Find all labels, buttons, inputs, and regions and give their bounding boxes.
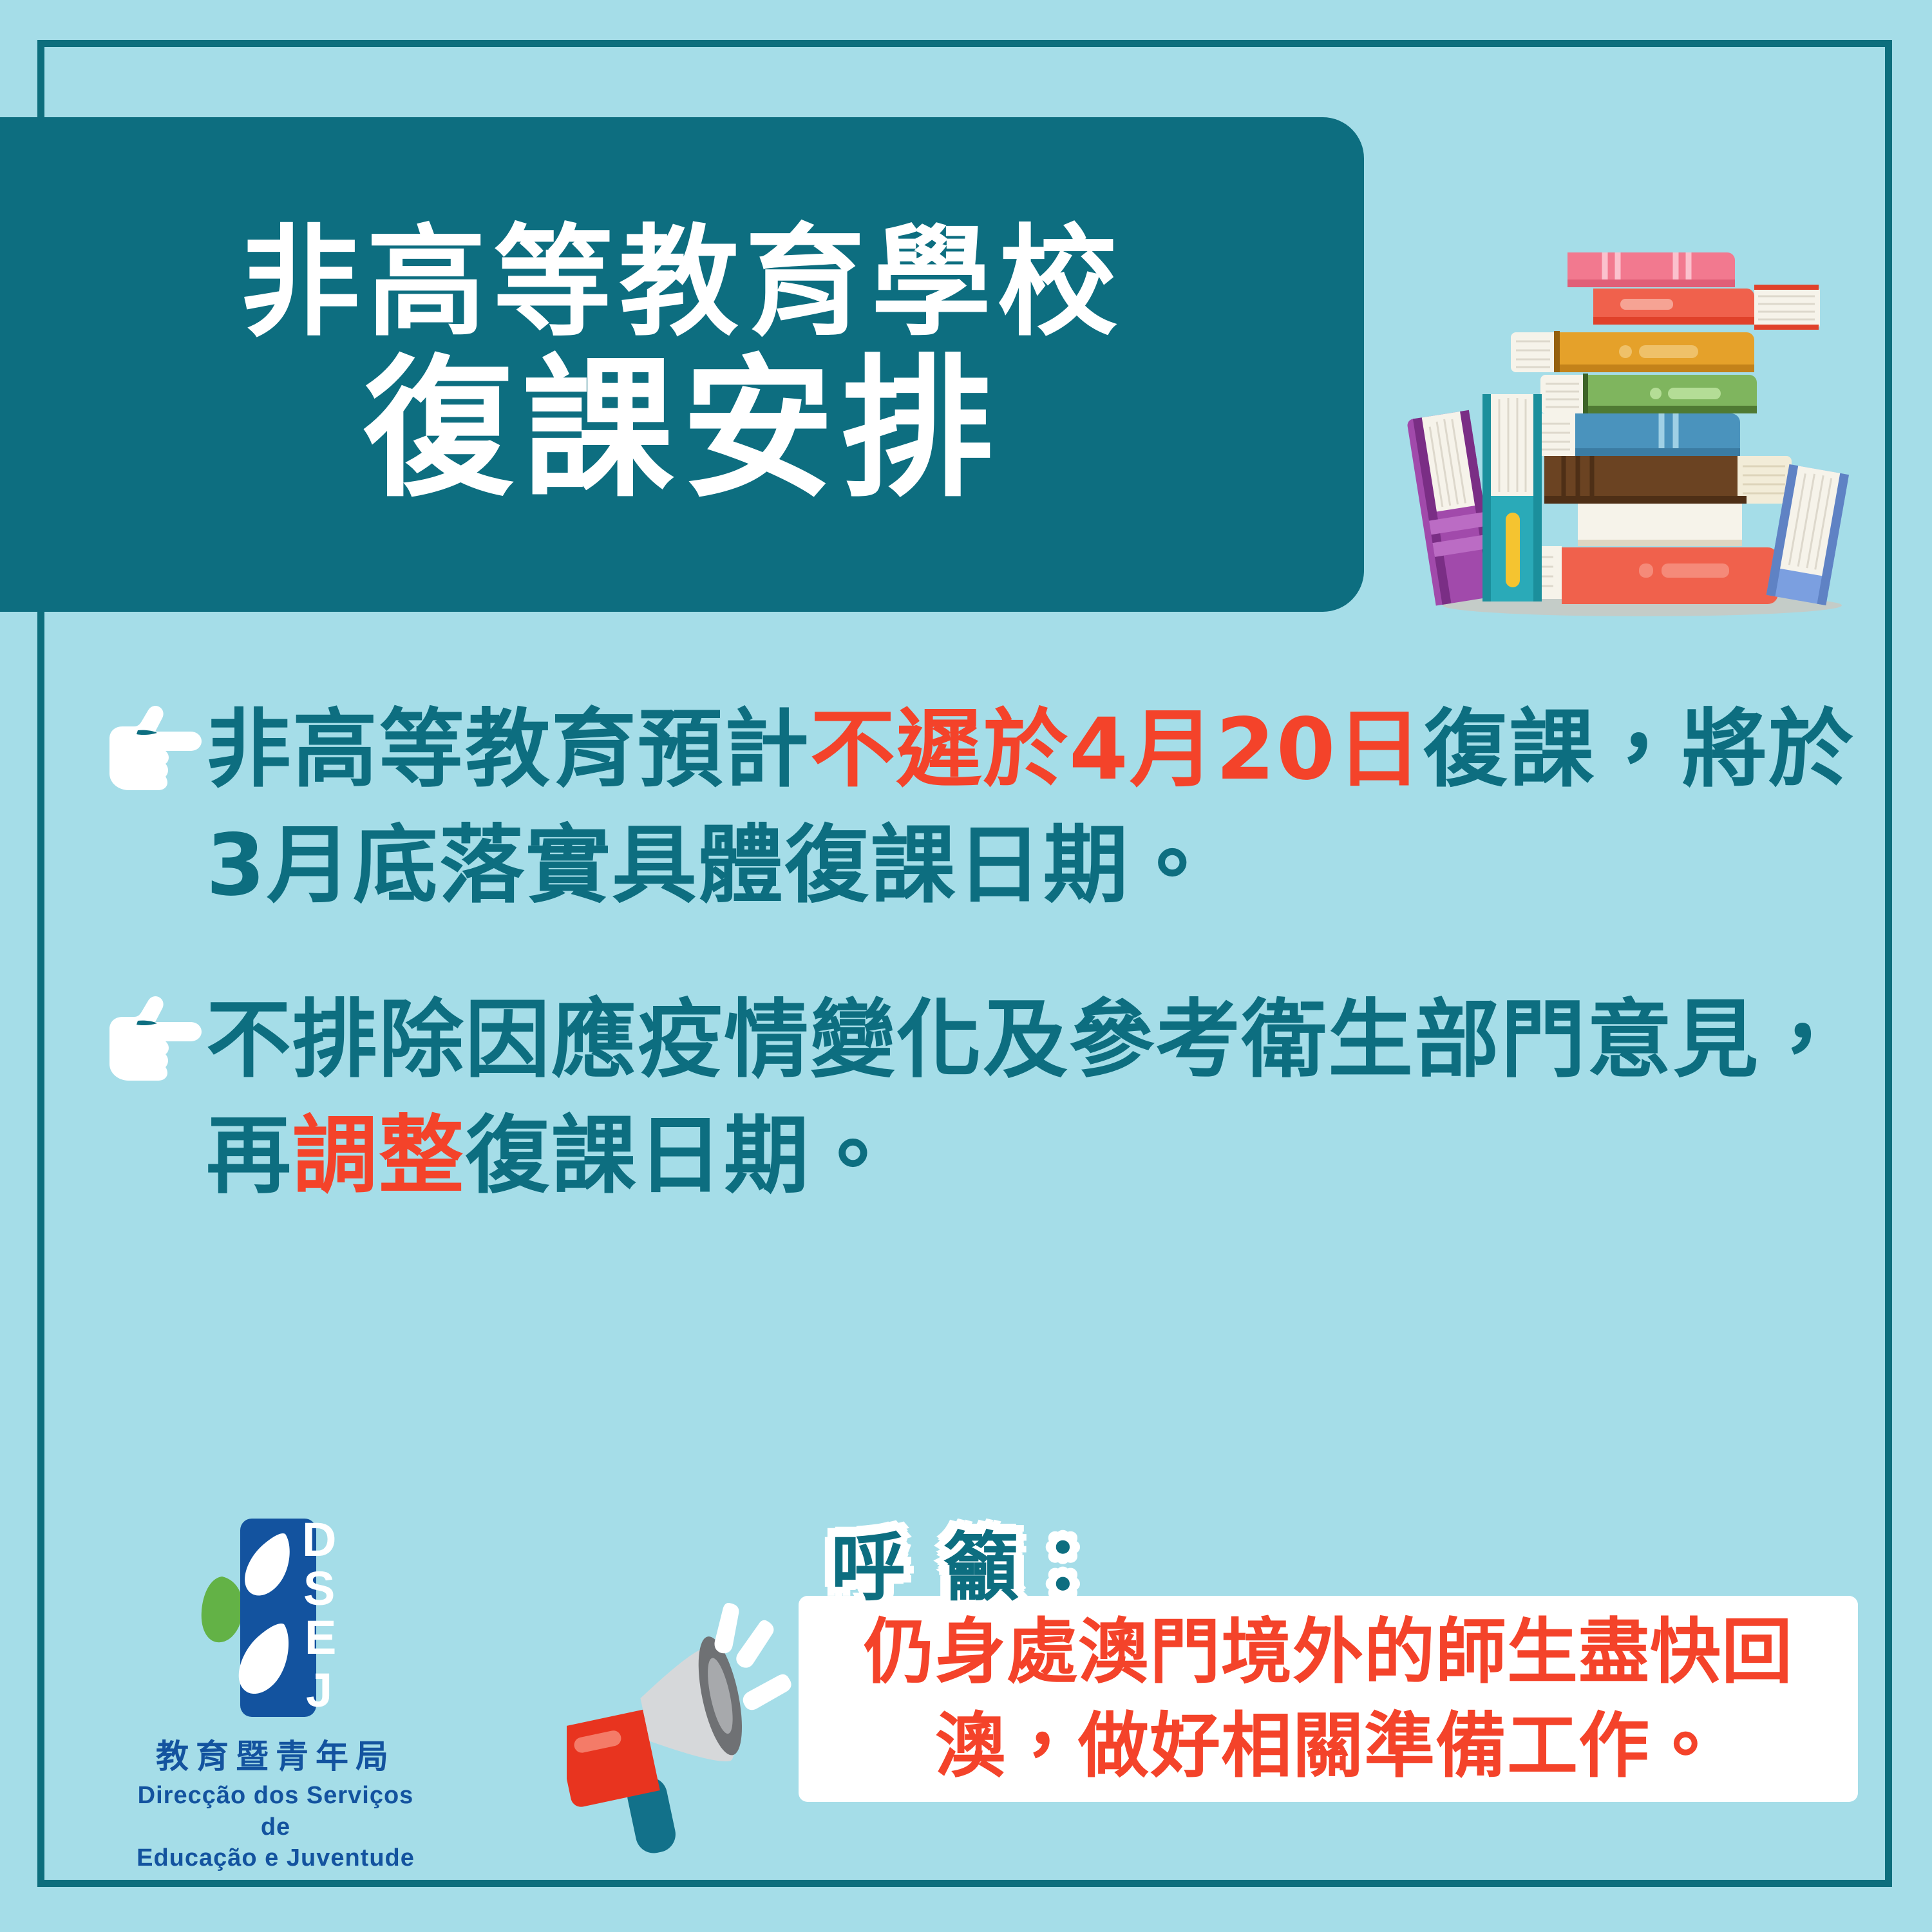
- bullet-item-1: 非高等教育預計不遲於4月20日復課，將於3月底落實具體復課日期。: [97, 692, 1861, 923]
- logo-name-pt: Direcção dos Serviços de Educação e Juve…: [121, 1780, 430, 1874]
- bullet-text-1: 非高等教育預計不遲於4月20日復課，將於3月底落實具體復課日期。: [206, 692, 1861, 923]
- book-stack-illustration: [1385, 213, 1887, 625]
- svg-text:S: S: [303, 1562, 335, 1615]
- pointing-hand-icon: [97, 700, 206, 797]
- bullet-text-2: 不排除因應疫情變化及參考衛生部門意見，再調整復課日期。: [206, 983, 1861, 1214]
- callout-label: 呼 籲：: [831, 1507, 1106, 1615]
- bullet1-highlight: 不遲於4月20日: [810, 700, 1423, 799]
- logo-name-pt-line1: Direcção dos Serviços de: [121, 1780, 430, 1842]
- footer: D S E J 教育暨青年局 Direcção dos Serviços de …: [0, 1501, 1932, 1900]
- megaphone-icon: [567, 1594, 799, 1890]
- bullet2-highlight: 調整: [292, 1106, 465, 1206]
- bullet1-seg1: 非高等教育預計: [206, 700, 810, 799]
- svg-text:E: E: [305, 1611, 336, 1664]
- dsej-logo-block: D S E J 教育暨青年局 Direcção dos Serviços de …: [121, 1513, 430, 1874]
- callout-box: 仍身處澳門境外的師生盡快回澳，做好相關準備工作。: [799, 1596, 1858, 1802]
- poster-root: 非高等教育學校 復課安排: [0, 0, 1932, 1932]
- pointing-hand-icon: [97, 990, 206, 1087]
- svg-text:D: D: [302, 1513, 336, 1566]
- bullet-list: 非高等教育預計不遲於4月20日復課，將於3月底落實具體復課日期。 不排除因應疫情…: [97, 692, 1861, 1273]
- dsej-logo-icon: D S E J: [182, 1513, 369, 1726]
- svg-text:J: J: [306, 1663, 332, 1717]
- logo-name-cn: 教育暨青年局: [156, 1730, 395, 1777]
- bullet-item-2: 不排除因應疫情變化及參考衛生部門意見，再調整復課日期。: [97, 983, 1861, 1214]
- page-title-line1: 非高等教育學校: [240, 220, 1124, 345]
- logo-name-pt-line2: Educação e Juventude: [121, 1842, 430, 1874]
- header-title-group: 非高等教育學校 復課安排: [0, 117, 1364, 612]
- bullet2-seg3: 復課日期。: [465, 1106, 896, 1206]
- page-title-line2: 復課安排: [363, 350, 1001, 509]
- callout-message: 仍身處澳門境外的師生盡快回澳，做好相關準備工作。: [799, 1605, 1858, 1794]
